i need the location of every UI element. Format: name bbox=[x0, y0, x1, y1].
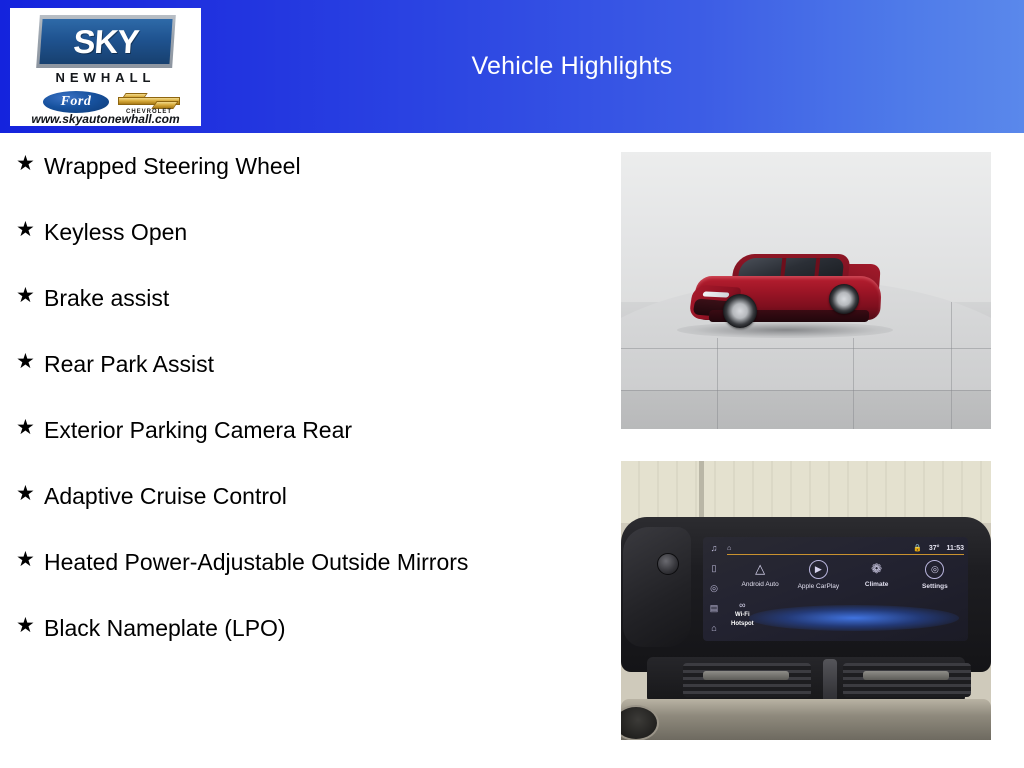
app-label: Climate bbox=[865, 581, 888, 588]
ford-logo-icon: Ford bbox=[42, 90, 110, 114]
infotainment-status-bar: ⌂ 🔒 37° 11:53 bbox=[727, 542, 964, 555]
ford-logo-text: Ford bbox=[61, 94, 92, 110]
home-icon[interactable]: ⌂ bbox=[709, 623, 720, 634]
vent-blade-right[interactable] bbox=[863, 671, 949, 680]
android-auto-icon: △ bbox=[752, 560, 769, 577]
garage-wall-background bbox=[621, 461, 991, 523]
air-vent-right bbox=[843, 663, 971, 697]
music-note-icon[interactable]: ♫ bbox=[709, 543, 720, 554]
star-bullet-icon: ★ bbox=[16, 413, 44, 443]
vehicle-exterior-photo[interactable] bbox=[621, 152, 991, 429]
feature-label: Black Nameplate (LPO) bbox=[44, 611, 514, 645]
center-vent-assembly bbox=[647, 657, 965, 703]
apple-carplay-icon: ▶ bbox=[809, 560, 828, 579]
infotainment-glow-effect bbox=[749, 605, 959, 631]
console-trim-bar bbox=[621, 699, 991, 740]
star-bullet-icon: ★ bbox=[16, 611, 44, 641]
dealer-website-url[interactable]: www.skyautonewhall.com bbox=[10, 112, 201, 126]
vehicle-body bbox=[689, 240, 885, 336]
air-vent-left bbox=[683, 663, 811, 697]
dealer-logo[interactable]: SKY NEWHALL Ford CHEVROLET www.skyautone… bbox=[10, 8, 201, 126]
wifi-hotspot-label-line1: Wi-Fi bbox=[735, 612, 750, 619]
feature-label: Exterior Parking Camera Rear bbox=[44, 413, 514, 447]
vehicle-highlights-list: ★ Wrapped Steering Wheel ★ Keyless Open … bbox=[0, 133, 600, 645]
app-tile-wifi-hotspot[interactable]: ∞ Wi-Fi Hotspot bbox=[731, 601, 754, 628]
list-item: ★ Brake assist bbox=[0, 281, 600, 315]
feature-label: Rear Park Assist bbox=[44, 347, 514, 381]
list-item: ★ Black Nameplate (LPO) bbox=[0, 611, 600, 645]
climate-icon: ❁ bbox=[868, 560, 885, 577]
phone-icon[interactable]: ▯ bbox=[709, 563, 720, 574]
bowtie-right-wing bbox=[151, 101, 178, 109]
status-clock: 11:53 bbox=[946, 545, 964, 552]
infotainment-touchscreen[interactable]: ♫ ▯ ◎ ▤ ⌂ ⌂ 🔒 37° 11:53 △ Android Auto bbox=[703, 537, 968, 641]
app-tile-android-auto[interactable]: △ Android Auto bbox=[732, 560, 788, 590]
infotainment-app-row: △ Android Auto ▶ Apple CarPlay ❁ Climate… bbox=[731, 560, 964, 590]
floor-grid-line bbox=[621, 348, 991, 349]
vent-blade-left[interactable] bbox=[703, 671, 789, 680]
sky-brand-plate: SKY bbox=[38, 15, 174, 68]
settings-gear-icon: ◎ bbox=[925, 560, 944, 579]
infotainment-side-rail: ♫ ▯ ◎ ▤ ⌂ bbox=[703, 537, 725, 641]
list-item: ★ Rear Park Assist bbox=[0, 347, 600, 381]
vehicle-front-wheel bbox=[723, 294, 757, 328]
console-control-ring[interactable] bbox=[621, 705, 659, 740]
instrument-cluster-housing bbox=[623, 527, 691, 647]
star-bullet-icon: ★ bbox=[16, 149, 44, 179]
star-bullet-icon: ★ bbox=[16, 215, 44, 245]
feature-label: Wrapped Steering Wheel bbox=[44, 149, 514, 183]
app-label: Apple CarPlay bbox=[798, 583, 840, 590]
radio-icon[interactable]: ◎ bbox=[709, 583, 720, 594]
app-tile-apple-carplay[interactable]: ▶ Apple CarPlay bbox=[790, 560, 846, 590]
feature-label: Keyless Open bbox=[44, 215, 514, 249]
garage-wall-post bbox=[699, 461, 704, 523]
app-tile-settings[interactable]: ◎ Settings bbox=[907, 560, 963, 590]
sky-brand-text: SKY bbox=[36, 15, 176, 68]
page-header: Vehicle Highlights SKY NEWHALL Ford CHEV… bbox=[0, 0, 1024, 133]
app-tile-climate[interactable]: ❁ Climate bbox=[849, 560, 905, 590]
feature-label: Adaptive Cruise Control bbox=[44, 479, 514, 513]
headlight-control-knob[interactable] bbox=[657, 553, 679, 575]
status-home-icon: ⌂ bbox=[727, 545, 731, 552]
document-icon[interactable]: ▤ bbox=[709, 603, 720, 614]
list-item: ★ Wrapped Steering Wheel bbox=[0, 149, 600, 183]
dealer-location-text: NEWHALL bbox=[10, 70, 201, 85]
list-item: ★ Adaptive Cruise Control bbox=[0, 479, 600, 513]
floor-grid-line bbox=[621, 390, 991, 391]
vehicle-interior-photo[interactable]: ♫ ▯ ◎ ▤ ⌂ ⌂ 🔒 37° 11:53 △ Android Auto bbox=[621, 461, 991, 740]
floor-grid-line bbox=[853, 338, 854, 429]
star-bullet-icon: ★ bbox=[16, 347, 44, 377]
feature-label: Brake assist bbox=[44, 281, 514, 315]
vehicle-media-column: ♫ ▯ ◎ ▤ ⌂ ⌂ 🔒 37° 11:53 △ Android Auto bbox=[621, 152, 991, 740]
floor-grid-line bbox=[717, 338, 718, 429]
star-bullet-icon: ★ bbox=[16, 545, 44, 575]
app-label: Android Auto bbox=[742, 581, 779, 588]
list-item: ★ Keyless Open bbox=[0, 215, 600, 249]
feature-label: Heated Power-Adjustable Outside Mirrors bbox=[44, 545, 514, 579]
floor-grid-line bbox=[951, 302, 952, 429]
dealer-logo-inner: SKY NEWHALL Ford CHEVROLET www.skyautone… bbox=[10, 8, 201, 126]
wifi-hotspot-icon: ∞ bbox=[739, 601, 745, 610]
app-label: Settings bbox=[922, 583, 948, 590]
status-temperature: 37° bbox=[929, 545, 940, 552]
list-item: ★ Exterior Parking Camera Rear bbox=[0, 413, 600, 447]
star-bullet-icon: ★ bbox=[16, 281, 44, 311]
vehicle-rear-wheel bbox=[829, 284, 859, 314]
star-bullet-icon: ★ bbox=[16, 479, 44, 509]
status-lock-icon: 🔒 bbox=[913, 544, 922, 552]
list-item: ★ Heated Power-Adjustable Outside Mirror… bbox=[0, 545, 600, 579]
chevrolet-bowtie-icon bbox=[118, 93, 180, 108]
status-right-group: 🔒 37° 11:53 bbox=[913, 544, 964, 552]
wifi-hotspot-label-line2: Hotspot bbox=[731, 621, 754, 628]
